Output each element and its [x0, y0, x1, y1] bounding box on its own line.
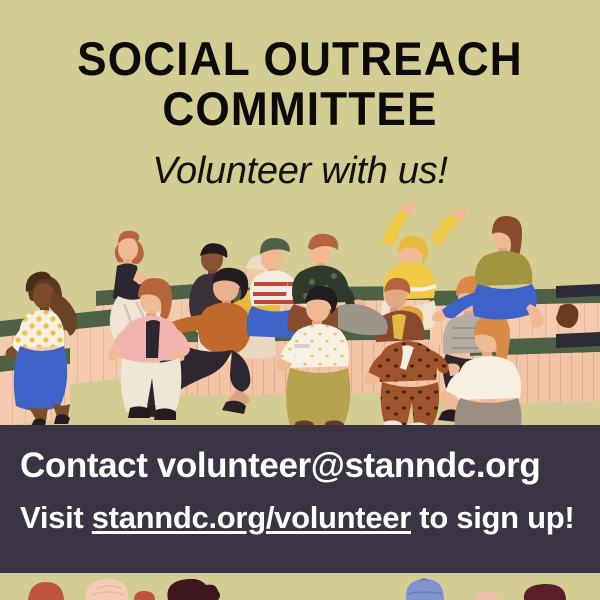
poster-canvas: SOCIAL OUTREACH COMMITTEE Volunteer with… [0, 0, 600, 600]
headline-block: SOCIAL OUTREACH COMMITTEE Volunteer with… [0, 34, 600, 192]
bottom-heads-strip [0, 573, 600, 600]
contact-band: Contact volunteer@stanndc.org Visit stan… [0, 425, 600, 573]
page-subtitle: Volunteer with us! [0, 150, 600, 192]
contact-email-line: Contact volunteer@stanndc.org [20, 446, 582, 486]
visit-prefix: Visit [20, 500, 92, 535]
visit-line: Visit stanndc.org/volunteer to sign up! [20, 500, 582, 536]
page-title-line-1: SOCIAL OUTREACH [18, 34, 582, 84]
volunteer-url-link[interactable]: stanndc.org/volunteer [92, 500, 411, 535]
visit-suffix: to sign up! [411, 500, 574, 535]
page-title-line-2: COMMITTEE [18, 84, 582, 134]
volunteers-illustration [0, 196, 600, 425]
